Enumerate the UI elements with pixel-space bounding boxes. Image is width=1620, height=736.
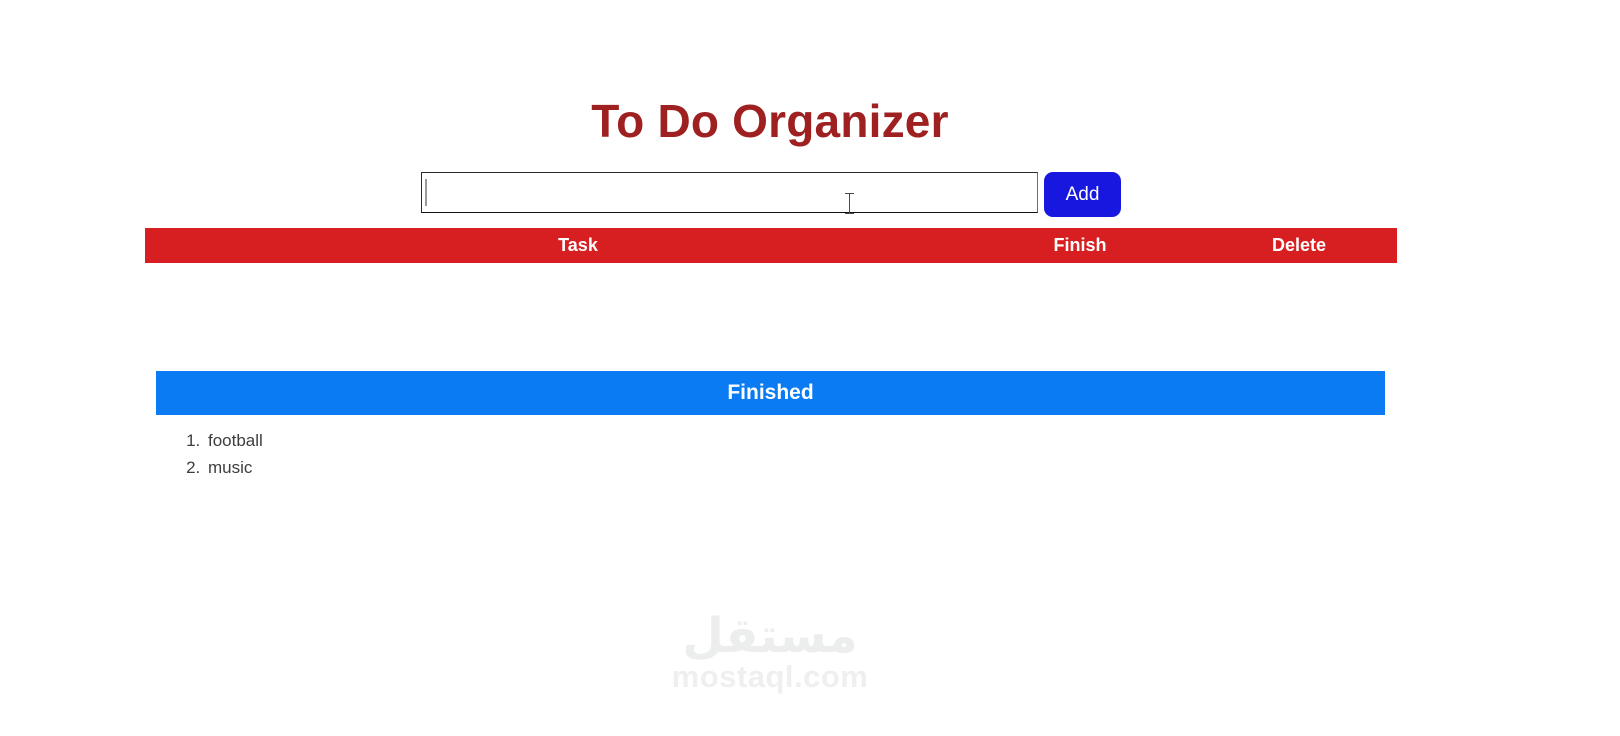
task-table-header: Task Finish Delete xyxy=(145,228,1397,263)
task-input-wrapper xyxy=(421,172,1038,213)
list-item[interactable]: football xyxy=(205,427,263,454)
finished-list: football music xyxy=(182,427,263,481)
watermark: مستقل mostaql.com xyxy=(0,612,1540,694)
add-task-form: Add xyxy=(421,172,1121,216)
finished-section-header: Finished xyxy=(156,371,1385,415)
task-input[interactable] xyxy=(421,172,1038,213)
task-table-body xyxy=(145,263,1397,368)
column-header-delete: Delete xyxy=(1234,228,1364,263)
watermark-arabic-logo: مستقل xyxy=(0,612,1540,662)
column-header-task: Task xyxy=(483,228,673,263)
list-item[interactable]: music xyxy=(205,454,263,481)
app-root: To Do Organizer Add Task Finish Delete F… xyxy=(0,0,1620,736)
page-title: To Do Organizer xyxy=(0,95,1540,148)
add-button[interactable]: Add xyxy=(1044,172,1121,217)
watermark-url: mostaql.com xyxy=(0,660,1540,694)
text-caret xyxy=(425,179,427,206)
column-header-finish: Finish xyxy=(1015,228,1145,263)
